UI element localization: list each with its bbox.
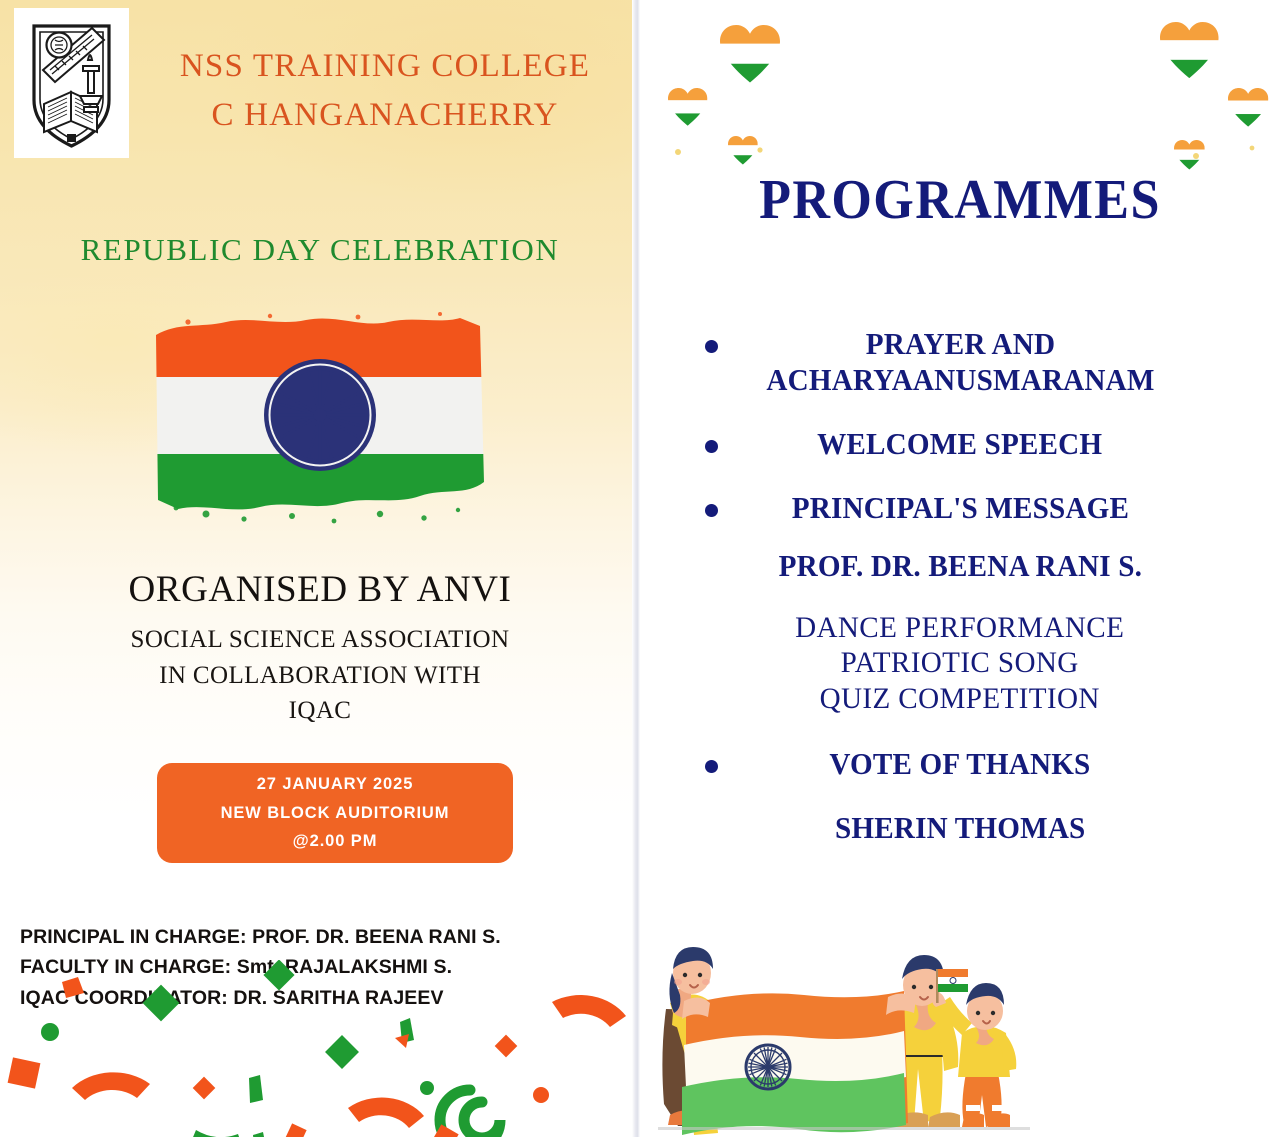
college-title: NSS TRAINING COLLEGE C HANGANACHERRY [150,42,620,140]
list-item: SHERIN THOMAS [640,810,1280,846]
organiser-details: SOCIAL SCIENCE ASSOCIATION IN COLLABORAT… [0,622,640,729]
organiser-line1: SOCIAL SCIENCE ASSOCIATION [0,622,640,658]
list-item: DANCE PERFORMANCE PATRIOTIC SONG QUIZ CO… [640,610,1280,716]
programmes-heading: PROGRAMMES [662,168,1257,232]
confetti-decoration [0,960,640,1137]
programme-item-label: VOTE OF THANKS [829,746,1090,782]
programme-item-label: PRINCIPAL'S MESSAGE [791,490,1128,526]
panel-divider [632,0,640,1137]
credit-principal: PRINCIPAL IN CHARGE: PROF. DR. BEENA RAN… [20,922,620,952]
heart-5 [1225,86,1275,132]
event-date: 27 JANUARY 2025 [257,770,414,798]
list-item: VOTE OF THANKS [640,746,1280,782]
crest-icon [14,8,129,158]
college-crest-logo [14,8,129,158]
event-title: REPUBLIC DAY CELEBRATION [0,232,640,268]
programme-activities: DANCE PERFORMANCE PATRIOTIC SONG QUIZ CO… [795,610,1124,716]
family-holding-flag-icon [648,917,1048,1137]
programme-speaker-name: PROF. DR. BEENA RANI S. [778,548,1142,584]
programme-speaker-name: SHERIN THOMAS [835,810,1085,846]
programme-list: PRAYER AND ACHARYAANUSMARANAM WELCOME SP… [640,326,1280,846]
programme-item-label: WELCOME SPEECH [817,426,1102,462]
programme-item-label: PRAYER AND ACHARYAANUSMARANAM [766,326,1154,398]
event-venue: NEW BLOCK AUDITORIUM [221,799,450,827]
heart-1 [715,23,790,92]
bullet-icon [705,440,718,453]
college-title-line2: C HANGANACHERRY [150,91,620,140]
college-title-line1: NSS TRAINING COLLEGE [150,42,620,91]
organiser-line2: IN COLLABORATION WITH [0,658,640,694]
indian-flag-brush-icon [148,300,493,530]
heart-4 [1155,20,1228,87]
left-panel-invitation: NSS TRAINING COLLEGE C HANGANACHERRY REP… [0,0,640,1137]
bullet-icon [705,760,718,773]
large-flag-icon [682,991,916,1135]
organiser-line3: IQAC [0,693,640,729]
event-details-badge: 27 JANUARY 2025 NEW BLOCK AUDITORIUM @2.… [157,763,513,863]
poster-root: NSS TRAINING COLLEGE C HANGANACHERRY REP… [0,0,1280,1137]
right-panel-programmes: PROGRAMMES PRAYER AND ACHARYAANUSMARANAM… [640,0,1280,1137]
list-item: PRINCIPAL'S MESSAGE [640,490,1280,526]
heart-3 [726,135,763,169]
bullet-icon [705,504,718,517]
list-item: WELCOME SPEECH [640,426,1280,462]
bullet-icon [705,340,718,353]
event-time: @2.00 PM [293,827,378,855]
heart-2 [665,86,714,131]
list-item: PROF. DR. BEENA RANI S. [640,548,1280,584]
list-item: PRAYER AND ACHARYAANUSMARANAM [640,326,1280,398]
organised-by: ORGANISED BY ANVI [0,568,640,611]
